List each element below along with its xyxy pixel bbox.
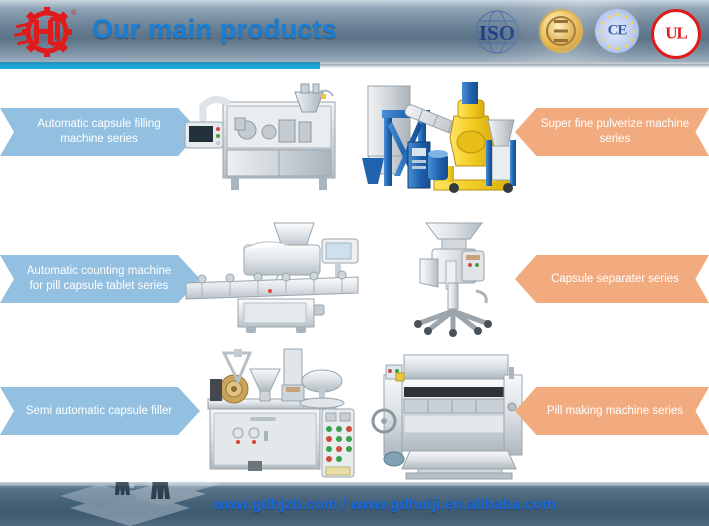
iso-badge-label: ISO bbox=[479, 21, 515, 45]
slide-header: ® Our main products ISO bbox=[0, 0, 709, 62]
huiji-gear-logo: ® bbox=[14, 6, 86, 58]
ul-certification-badge: UL bbox=[651, 9, 697, 55]
product-label-pill-making[interactable]: Pill making machine series bbox=[515, 387, 709, 435]
ce-certification-badge: CE bbox=[595, 9, 641, 55]
product-label-super-fine-pulverize[interactable]: Super fine pulverize machine series bbox=[515, 108, 709, 156]
product-label-automatic-counting[interactable]: Automatic counting machine for pill caps… bbox=[0, 255, 200, 303]
super-fine-pulverizer-machine-photo bbox=[358, 80, 518, 200]
product-label-semi-automatic-filler[interactable]: Semi automatic capsule filler bbox=[0, 387, 200, 435]
ce-badge-label: CE bbox=[608, 23, 627, 40]
semi-automatic-capsule-filler-photo bbox=[198, 347, 362, 481]
automatic-counting-machine-photo bbox=[182, 217, 362, 337]
certification-badges: ISO bbox=[465, 9, 697, 55]
page-title: Our main products bbox=[92, 14, 337, 45]
eu-stars-ring bbox=[595, 9, 639, 53]
gold-coin-certification-badge bbox=[539, 9, 585, 55]
ul-badge-label: UL bbox=[665, 24, 687, 44]
website-url[interactable]: www.gdhjzb.com / www.gdhuiji.en.alibaba.… bbox=[0, 482, 709, 526]
product-row-1: Automatic capsule filling machine series bbox=[0, 80, 709, 205]
product-row-3: Semi automatic capsule filler bbox=[0, 343, 709, 481]
product-row-2: Automatic counting machine for pill caps… bbox=[0, 215, 709, 340]
slide-canvas: ® Our main products ISO bbox=[0, 0, 709, 526]
product-label-capsule-separater[interactable]: Capsule separater series bbox=[515, 255, 709, 303]
trademark-symbol: ® bbox=[71, 9, 77, 17]
product-label-capsule-filling[interactable]: Automatic capsule filling machine series bbox=[0, 108, 200, 156]
iso-certification-badge: ISO bbox=[465, 9, 529, 55]
slide-footer: www.gdhjzb.com / www.gdhuiji.en.alibaba.… bbox=[0, 482, 709, 526]
header-shadow bbox=[0, 62, 709, 69]
capsule-separater-photo bbox=[396, 217, 512, 337]
pill-making-machine-photo bbox=[366, 347, 532, 481]
capsule-filling-machine-photo bbox=[183, 82, 351, 202]
